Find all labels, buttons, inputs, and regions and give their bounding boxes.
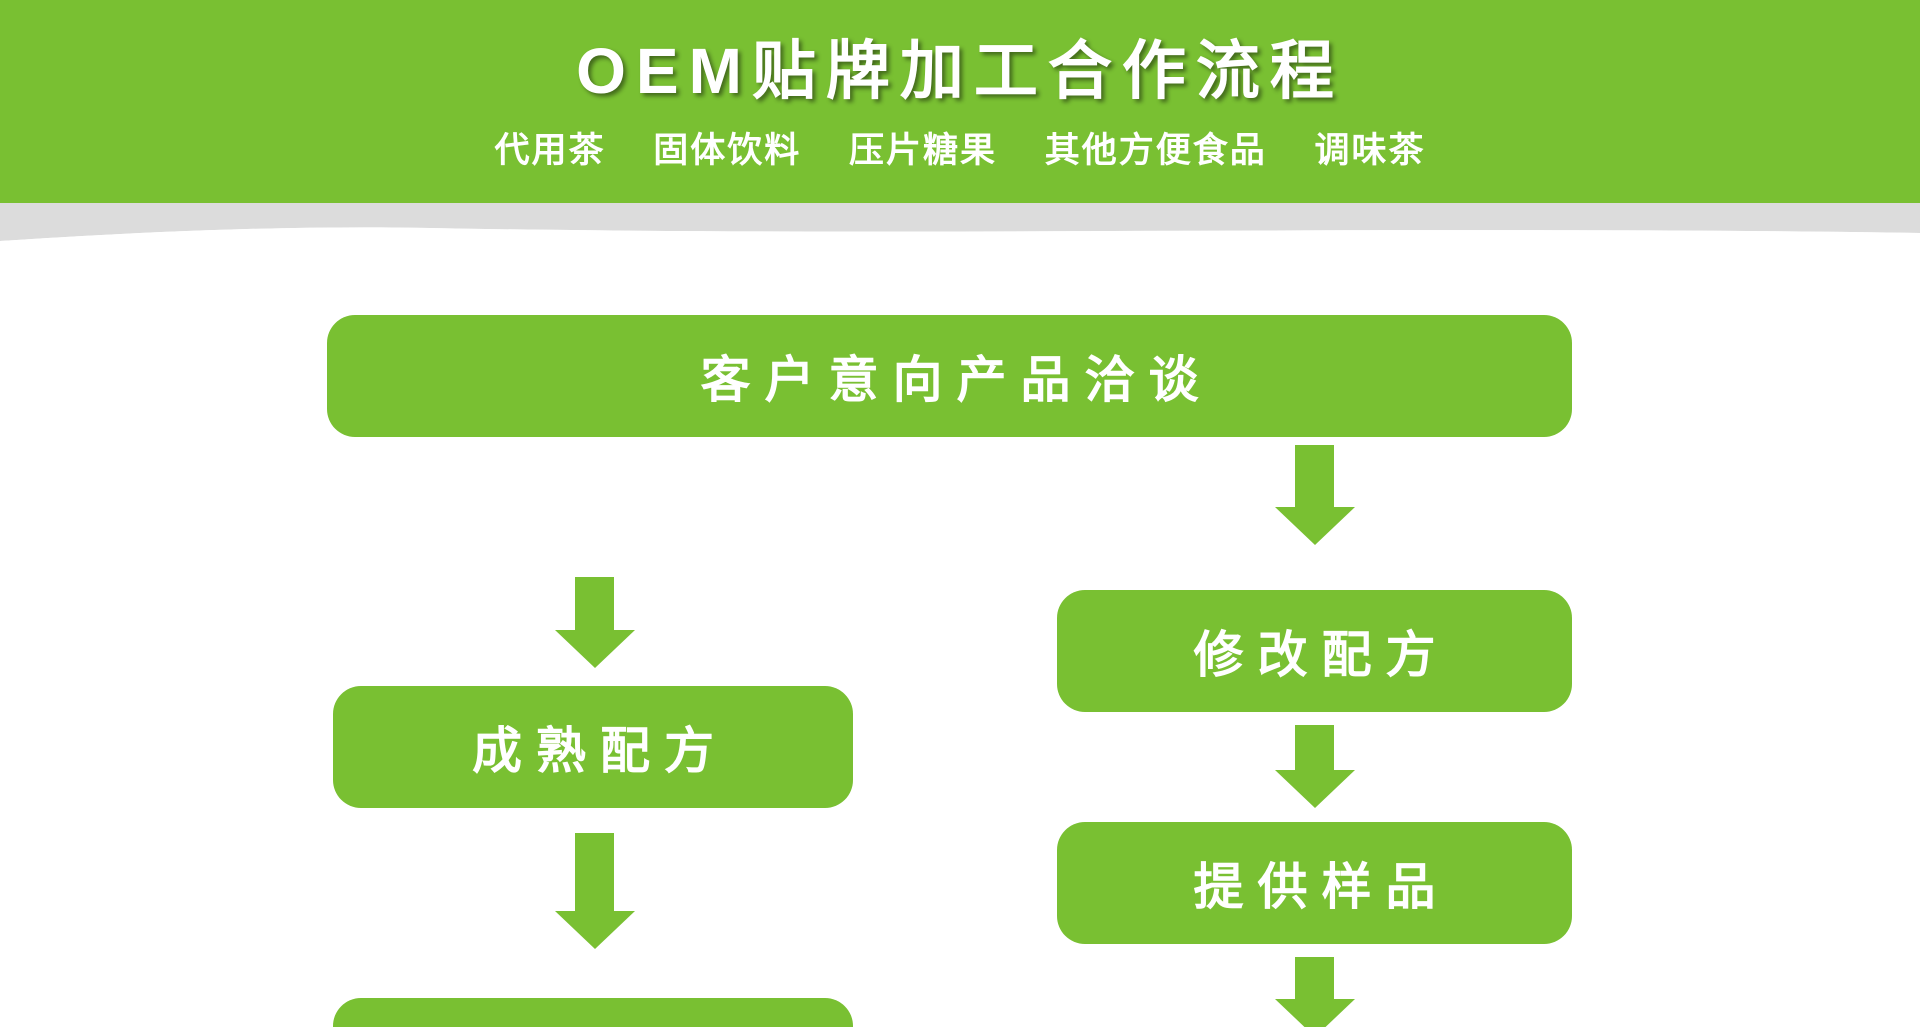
category-item-3: 其他方便食品: [1045, 131, 1267, 170]
page-title: OEM贴牌加工合作流程: [0, 20, 1920, 112]
flow-node-customer-negotiation: 客户意向产品洽谈: [327, 315, 1572, 437]
flow-node-provide-sample: 提供样品: [1057, 822, 1572, 944]
category-item-2: 压片糖果: [849, 131, 997, 170]
divider-strip: [0, 203, 1920, 247]
flowchart: 客户意向产品洽谈 修改配方 成熟配方 提供样品: [0, 247, 1920, 1027]
flow-node-label: 成熟配方: [458, 711, 728, 783]
flow-node-next-left: [333, 998, 853, 1027]
header-banner: OEM贴牌加工合作流程 代用茶 固体饮料 压片糖果 其他方便食品 调味茶: [0, 0, 1920, 203]
category-item-1: 固体饮料: [653, 131, 801, 170]
category-list: 代用茶 固体饮料 压片糖果 其他方便食品 调味茶: [0, 122, 1920, 173]
flow-node-label: 客户意向产品洽谈: [687, 340, 1213, 412]
flow-node-label: 提供样品: [1180, 847, 1450, 919]
flow-node-modify-formula: 修改配方: [1057, 590, 1572, 712]
flow-node-mature-formula: 成熟配方: [333, 686, 853, 808]
page-root: OEM贴牌加工合作流程 代用茶 固体饮料 压片糖果 其他方便食品 调味茶 客户意…: [0, 0, 1920, 1027]
category-item-0: 代用茶: [494, 131, 605, 170]
category-item-4: 调味茶: [1314, 131, 1425, 170]
flow-node-label: 修改配方: [1180, 615, 1450, 687]
